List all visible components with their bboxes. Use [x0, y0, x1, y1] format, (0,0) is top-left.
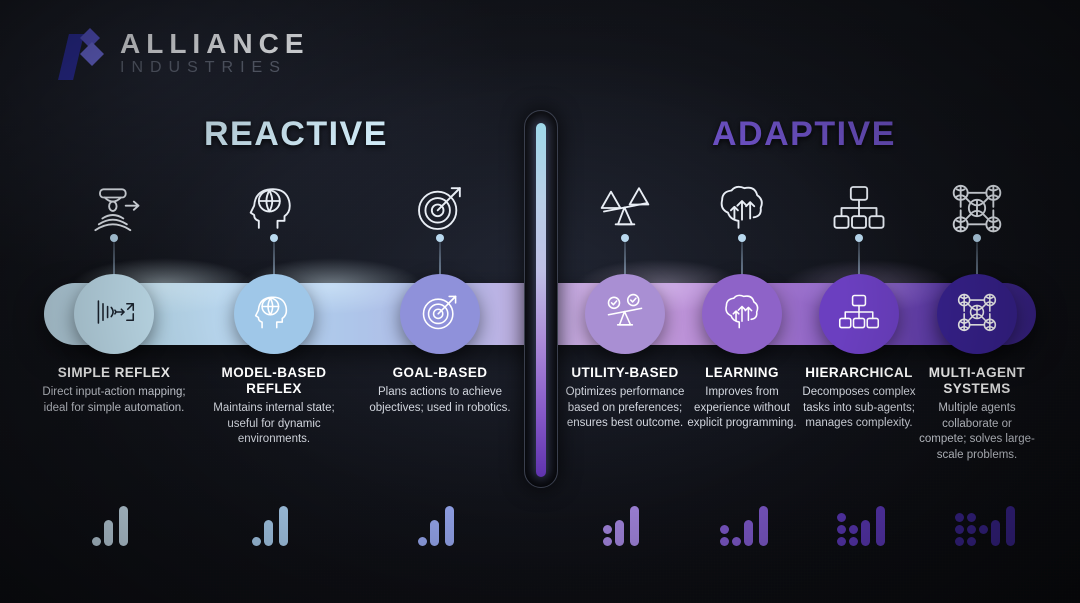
brand-logo: ALLIANCE INDUSTRIES [58, 28, 310, 80]
node-description: Optimizes performance based on preferenc… [560, 385, 690, 432]
node-level-indicator [418, 490, 456, 560]
node-connector-dot [110, 234, 118, 242]
balance-scale-icon [582, 178, 668, 238]
node-connector-dot [621, 234, 629, 242]
node-connector-dot [270, 234, 278, 242]
node-connector-dot [436, 234, 444, 242]
node-description: Decomposes complex tasks into sub-agents… [800, 385, 918, 432]
node-description: Direct input-action mapping; ideal for s… [29, 385, 199, 416]
center-divider-gradient [536, 123, 546, 477]
sensor-signal-arrow-icon [71, 178, 157, 238]
brand-tagline: INDUSTRIES [120, 58, 310, 79]
balance-scale-check-icon [603, 290, 647, 339]
node-title: MODEL-BASED REFLEX [199, 365, 349, 398]
org-chart-tree-icon [837, 290, 881, 339]
multi-brain-network-icon [934, 178, 1020, 238]
section-heading-adaptive: ADAPTIVE [712, 115, 896, 154]
logo-mark-icon [58, 28, 106, 80]
node-level-indicator [720, 490, 770, 560]
node-level-indicator [955, 490, 1017, 560]
node-badge-model-based-reflex[interactable] [234, 274, 314, 354]
node-description: Multiple agents collaborate or compete; … [917, 401, 1037, 464]
node-description: Plans actions to achieve objectives; use… [365, 385, 515, 416]
node-badge-multi-agent-systems[interactable] [937, 274, 1017, 354]
node-level-indicator [252, 490, 290, 560]
brain-growth-arrows-icon [720, 290, 764, 339]
head-globe-icon [252, 290, 296, 339]
node-level-indicator [837, 490, 887, 560]
node-title: MULTI-AGENT SYSTEMS [912, 365, 1042, 398]
node-description: Maintains internal state; useful for dyn… [204, 401, 344, 448]
node-badge-simple-reflex[interactable] [74, 274, 154, 354]
brain-growth-arrows-icon [699, 178, 785, 238]
node-title: GOAL-BASED [353, 365, 528, 381]
center-divider-capsule [524, 110, 558, 488]
multi-brain-network-icon [955, 290, 999, 339]
org-chart-tree-icon [816, 178, 902, 238]
node-level-indicator [603, 490, 641, 560]
node-connector-dot [738, 234, 746, 242]
node-connector-dot [973, 234, 981, 242]
node-description: Improves from experience without explici… [687, 385, 797, 432]
node-badge-hierarchical[interactable] [819, 274, 899, 354]
section-heading-reactive: REACTIVE [204, 115, 388, 154]
brand-name: ALLIANCE [120, 29, 310, 58]
node-badge-utility-based[interactable] [585, 274, 665, 354]
signal-to-action-icon [92, 290, 136, 339]
target-arrow-icon [418, 290, 462, 339]
node-badge-goal-based[interactable] [400, 274, 480, 354]
head-globe-icon [231, 178, 317, 238]
target-arrow-icon [397, 178, 483, 238]
node-badge-learning[interactable] [702, 274, 782, 354]
node-title: SIMPLE REFLEX [27, 365, 202, 381]
node-level-indicator [92, 490, 130, 560]
node-connector-dot [855, 234, 863, 242]
